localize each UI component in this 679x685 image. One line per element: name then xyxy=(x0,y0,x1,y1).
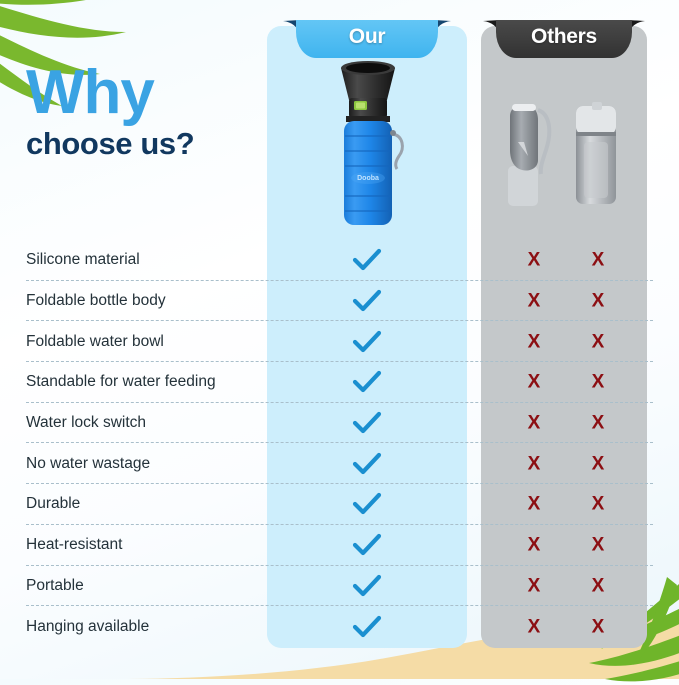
others-banner-label: Others xyxy=(531,25,597,49)
headline-line-2: choose us? xyxy=(26,127,276,161)
table-row: Portable X X xyxy=(0,566,679,607)
table-row: Foldable bottle body X X xyxy=(0,281,679,322)
our-check-icon xyxy=(352,289,382,313)
table-row: Foldable water bowl X X xyxy=(0,321,679,362)
other-b-cross-icon: X xyxy=(592,292,605,311)
our-check-icon xyxy=(352,615,382,639)
other-a-cross-icon: X xyxy=(528,454,541,473)
table-row: Heat-resistant X X xyxy=(0,525,679,566)
our-check-icon xyxy=(352,533,382,557)
our-check-icon xyxy=(352,574,382,598)
other-a-cross-icon: X xyxy=(528,617,541,636)
feature-label: Hanging available xyxy=(26,618,149,636)
feature-label: Durable xyxy=(26,495,80,513)
comparison-table: Silicone material X X Foldable bottle bo… xyxy=(0,240,679,647)
our-banner-body: Our xyxy=(296,20,438,58)
feature-label: Heat-resistant xyxy=(26,536,122,554)
other-a-cross-icon: X xyxy=(528,251,541,270)
other-b-cross-icon: X xyxy=(592,454,605,473)
table-row: Hanging available X X xyxy=(0,606,679,647)
others-column-banner: Others xyxy=(496,20,632,58)
feature-label: Water lock switch xyxy=(26,414,146,432)
other-a-cross-icon: X xyxy=(528,292,541,311)
other-b-cross-icon: X xyxy=(592,373,605,392)
other-b-cross-icon: X xyxy=(592,576,605,595)
table-row: Water lock switch X X xyxy=(0,403,679,444)
other-a-cross-icon: X xyxy=(528,536,541,555)
feature-label: Standable for water feeding xyxy=(26,373,216,391)
other-a-cross-icon: X xyxy=(528,495,541,514)
other-b-cross-icon: X xyxy=(592,495,605,514)
other-a-cross-icon: X xyxy=(528,576,541,595)
our-banner-label: Our xyxy=(349,25,385,49)
other-a-cross-icon: X xyxy=(528,332,541,351)
feature-label: Foldable water bowl xyxy=(26,333,164,351)
page-title: Why choose us? xyxy=(26,64,276,161)
svg-text:Dooba: Dooba xyxy=(357,175,379,182)
table-row: Silicone material X X xyxy=(0,240,679,281)
feature-label: Portable xyxy=(26,577,84,595)
our-check-icon xyxy=(352,492,382,516)
our-check-icon xyxy=(352,248,382,272)
other-b-cross-icon: X xyxy=(592,251,605,270)
feature-label: Silicone material xyxy=(26,251,140,269)
other-b-cross-icon: X xyxy=(592,536,605,555)
our-check-icon xyxy=(352,452,382,476)
our-check-icon xyxy=(352,370,382,394)
feature-label: No water wastage xyxy=(26,455,150,473)
our-product-image: Dooba xyxy=(327,56,409,232)
other-b-cross-icon: X xyxy=(592,332,605,351)
table-row: No water wastage X X xyxy=(0,443,679,484)
our-check-icon xyxy=(352,330,382,354)
table-row: Standable for water feeding X X xyxy=(0,362,679,403)
others-banner-body: Others xyxy=(496,20,632,58)
other-a-cross-icon: X xyxy=(528,414,541,433)
headline-line-1: Why xyxy=(26,64,276,121)
our-check-icon xyxy=(352,411,382,435)
others-product-images xyxy=(494,98,634,210)
table-row: Durable X X xyxy=(0,484,679,525)
our-column-banner: Our xyxy=(296,20,438,58)
feature-label: Foldable bottle body xyxy=(26,292,166,310)
other-a-cross-icon: X xyxy=(528,373,541,392)
other-b-cross-icon: X xyxy=(592,617,605,636)
other-b-cross-icon: X xyxy=(592,414,605,433)
